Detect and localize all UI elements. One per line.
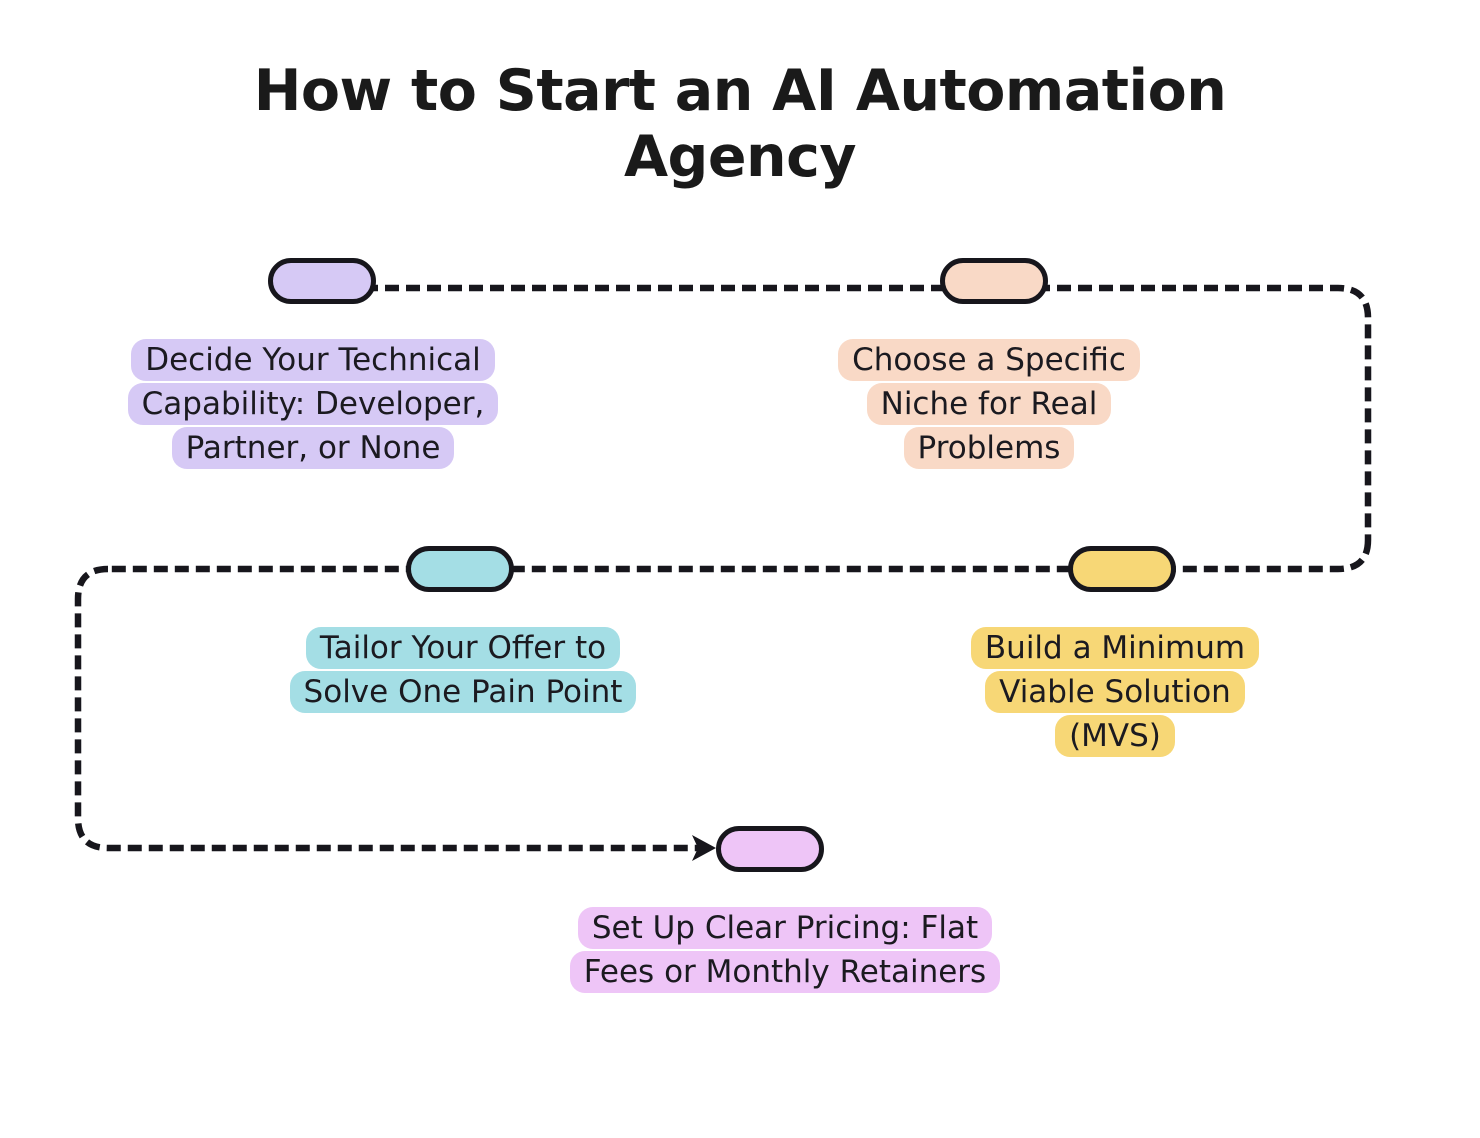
connector-right-bend [108, 540, 1368, 569]
node-pill-step-2[interactable] [940, 258, 1048, 304]
node-label-step-2: Choose a Specific Niche for Real Problem… [794, 338, 1184, 470]
node-pill-step-1[interactable] [268, 258, 376, 304]
node-label-line: Tailor Your Offer to [306, 627, 620, 669]
node-label-line: Fees or Monthly Retainers [570, 951, 1000, 993]
node-pill-step-4[interactable] [1068, 546, 1176, 592]
node-label-line: Build a Minimum [971, 627, 1259, 669]
node-label-line: (MVS) [1055, 715, 1175, 757]
node-label-line: Capability: Developer, [128, 383, 499, 425]
node-label-line: Decide Your Technical [131, 339, 495, 381]
node-label-line: Choose a Specific [838, 339, 1140, 381]
node-label-line: Viable Solution [985, 671, 1245, 713]
node-label-line: Problems [904, 427, 1075, 469]
node-label-step-3: Tailor Your Offer to Solve One Pain Poin… [258, 626, 668, 714]
node-label-step-1: Decide Your Technical Capability: Develo… [78, 338, 548, 470]
node-pill-step-5[interactable] [716, 826, 824, 872]
node-pill-step-3[interactable] [406, 546, 514, 592]
node-label-line: Set Up Clear Pricing: Flat [578, 907, 992, 949]
diagram-canvas: How to Start an AI Automation Agency Dec… [0, 0, 1480, 1138]
node-label-line: Niche for Real [867, 383, 1112, 425]
node-label-line: Partner, or None [172, 427, 455, 469]
node-label-step-4: Build a Minimum Viable Solution (MVS) [940, 626, 1290, 758]
node-label-step-5: Set Up Clear Pricing: Flat Fees or Month… [525, 906, 1045, 994]
node-label-line: Solve One Pain Point [290, 671, 637, 713]
